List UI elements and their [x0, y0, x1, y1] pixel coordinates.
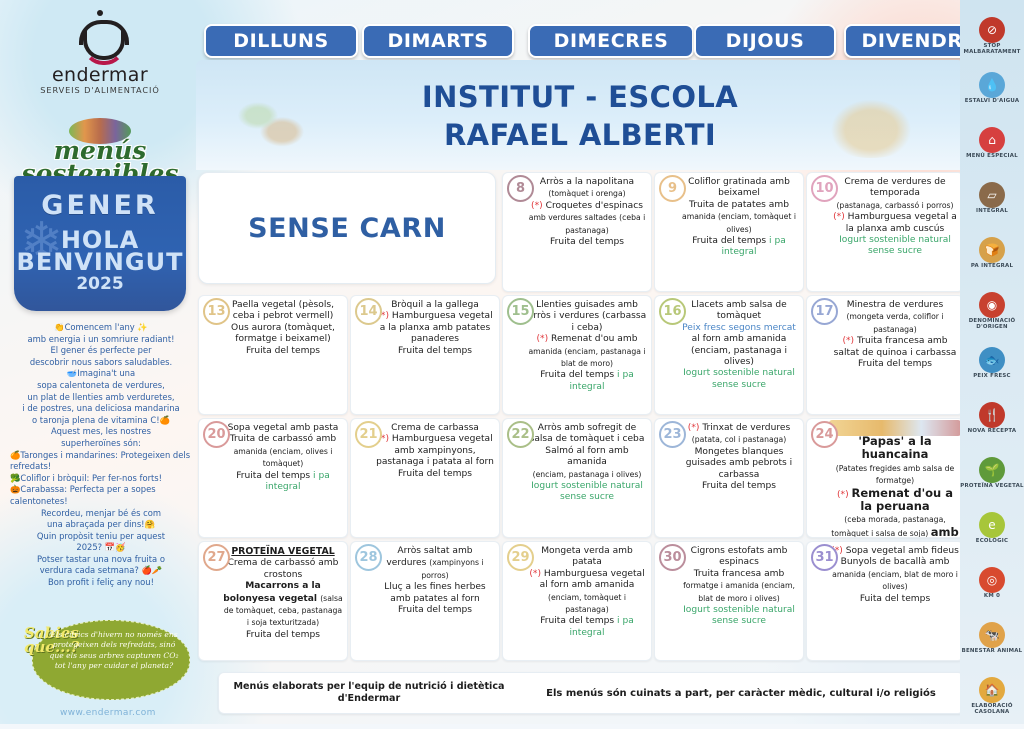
- menu-day-cell[interactable]: 16Llacets amb salsa de tomàquetPeix fres…: [654, 295, 804, 415]
- menu-text: Crema de carbassa: [391, 423, 479, 433]
- menu-line: Fruita del temps: [223, 630, 343, 641]
- menu-text: Crema de carbassó amb crostons: [228, 558, 339, 579]
- menu-text: Iogurt sostenible natural sense sucre: [683, 605, 795, 626]
- menu-line: amanida (enciam, pastanaga i blat de mor…: [527, 346, 647, 371]
- menu-line: Llenties guisades amb arròs i verdures (…: [527, 300, 647, 334]
- menu-line: amb verdures saltades (ceba i pastanaga): [527, 212, 647, 237]
- intro-line: superheroïnes són:: [10, 438, 192, 450]
- menu-day-cell[interactable]: 28Arròs saltat ambverdures (xampinyons i…: [350, 541, 500, 661]
- menu-line: (mongeta verda, coliflor i pastanaga): [831, 311, 959, 336]
- day-number: 28: [355, 544, 382, 571]
- legend-icon-rail: ⊘STOP MALBARATAMENT💧ESTALVI D'AIGUA⌂MENÚ…: [960, 0, 1024, 724]
- menu-text: Hamburguesa vegetal amb xampinyons, past…: [376, 434, 494, 467]
- intro-line: un plat de llenties amb verduretes,: [10, 392, 192, 404]
- intro-line: 🥣Imagina't una: [10, 368, 192, 380]
- legend-item-cutlery: 🍴NOVA RECEPTA: [960, 402, 1024, 454]
- menu-text: Macarrons a la bolonyesa vegetal: [223, 581, 321, 603]
- menu-text: Mongeta verda amb patata: [541, 546, 633, 567]
- menu-line: Fruita del temps: [223, 346, 343, 357]
- legend-item-label: MENÚ ESPECIAL: [960, 153, 1024, 159]
- menu-day-cell[interactable]: 27PROTEÏNA VEGETALCrema de carbassó amb …: [198, 541, 348, 661]
- sprout-icon: 🌱: [975, 457, 1009, 482]
- menu-text: Fruita del temps: [398, 346, 472, 356]
- weekday-label: DIJOUS: [726, 30, 805, 52]
- legend-item-label: KM 0: [960, 593, 1024, 599]
- menu-text: Salmó al forn amb amanida: [545, 446, 628, 467]
- menu-day-cell[interactable]: 21Crema de carbassa(*) Hamburguesa veget…: [350, 418, 500, 538]
- sense-carn-label: SENSE CARN: [248, 213, 446, 244]
- day-number: 27: [203, 544, 230, 571]
- brand-tagline: SERVEIS D'ALIMENTACIÓ: [0, 85, 200, 95]
- menu-text: al forn amb amanida (enciam, pastanaga i…: [691, 334, 787, 367]
- menu-text: Minestra de verdures: [847, 300, 943, 310]
- menu-line: (patata, col i pastanaga): [679, 434, 799, 446]
- menu-text: (ceba morada, pastanaga, tomàquet i sals…: [831, 515, 945, 537]
- intro-line: una abraçada per dins!🤗: [10, 519, 192, 531]
- menu-text: Hamburguesa vegetal al forn amb amanida: [540, 569, 645, 590]
- day-number: 16: [659, 298, 686, 325]
- menu-line: (pastanaga, carbassó i porros): [831, 200, 959, 212]
- menu-day-cell[interactable]: 8Arròs a la napolitana(tomàquet i orenga…: [502, 172, 652, 292]
- menu-line: amanida (enciam, tomàquet i olives): [679, 211, 799, 236]
- menu-text: Paella vegetal (pèsols, ceba i pebrot ve…: [232, 300, 334, 321]
- menu-day-cell[interactable]: 17Minestra de verdures(mongeta verda, co…: [806, 295, 964, 415]
- day-number: 17: [811, 298, 838, 325]
- weekday-pill-dijous[interactable]: DIJOUS: [694, 24, 836, 58]
- menu-line: Bunyols de bacallà amb: [831, 557, 959, 568]
- animal-welfare-icon: 🐄: [975, 622, 1009, 647]
- menu-line: Minestra de verdures: [831, 300, 959, 311]
- menu-text: (*): [531, 201, 546, 211]
- menu-line: Lluç a les fines herbes amb patates al f…: [375, 582, 495, 605]
- menu-line: Coliflor gratinada amb beixamel: [679, 177, 799, 200]
- menu-line: Fruita del temps: [375, 469, 495, 480]
- weekday-pill-dimecres[interactable]: DIMECRES: [528, 24, 694, 58]
- legend-item-animal-welfare: 🐄BENESTAR ANIMAL: [960, 622, 1024, 674]
- menu-line: verdures (xampinyons i porros): [375, 557, 495, 582]
- menu-text: amb: [931, 525, 959, 538]
- menu-line: Iogurt sostenible natural sense sucre: [831, 235, 959, 258]
- menu-text: Fruita del temps: [692, 236, 769, 246]
- menu-line: Fuita del temps: [831, 594, 959, 605]
- menu-text: PROTEÏNA VEGETAL: [231, 546, 334, 557]
- day-number: 13: [203, 298, 230, 325]
- intro-line: Quin propòsit teniu per aquest: [10, 531, 192, 543]
- day-number: 20: [203, 421, 230, 448]
- menu-text: Iogurt sostenible natural sense sucre: [839, 235, 951, 256]
- menu-day-cell[interactable]: 23(*) Trinxat de verdures(patata, col i …: [654, 418, 804, 538]
- menu-text: Truita de carbassó amb: [230, 434, 336, 444]
- menu-line: Fruita del temps: [679, 481, 799, 492]
- footer-note: Menús elaborats per l'equip de nutrició …: [218, 672, 964, 714]
- menu-line: Crema de carbassa: [375, 423, 495, 434]
- menu-line: (*) Remenat d'ou a la peruana: [831, 488, 959, 515]
- menu-text: verdures: [386, 558, 429, 568]
- intro-line: amb energia i un somriure radiant!: [10, 334, 192, 346]
- menu-text: Remenat d'ou a la peruana: [852, 486, 954, 513]
- menu-day-cell[interactable]: 29Mongeta verda amb patata(*) Hamburgues…: [502, 541, 652, 661]
- menu-line: Ous aurora (tomàquet, formatge i beixame…: [223, 323, 343, 346]
- menu-line: Fruita del temps i pa integral: [527, 370, 647, 393]
- menu-line: (Patates fregides amb salsa de formatge): [831, 463, 959, 488]
- legend-item-label: NOVA RECEPTA: [960, 428, 1024, 434]
- intro-line: verdura cada setmana? 🍎🥕: [10, 565, 192, 577]
- menu-text: Arròs amb sofregit de salsa de tomàquet …: [530, 423, 645, 444]
- weekday-pill-dilluns[interactable]: DILLUNS: [204, 24, 358, 58]
- menu-text: (tomàquet i orenga): [548, 189, 625, 198]
- menu-text: (xampinyons i porros): [421, 558, 483, 579]
- legend-item-label: INTEGRAL: [960, 208, 1024, 214]
- menu-text: Coliflor gratinada amb beixamel: [688, 177, 790, 198]
- menu-text: Lluç a les fines herbes amb patates al f…: [384, 582, 485, 603]
- day-number: 10: [811, 175, 838, 202]
- menu-text: (enciam, pastanaga i olives): [533, 470, 642, 479]
- menu-day-cell[interactable]: 13Paella vegetal (pèsols, ceba i pebrot …: [198, 295, 348, 415]
- intro-line: Potser tastar una nova fruita o: [10, 554, 192, 566]
- menu-line: Paella vegetal (pèsols, ceba i pebrot ve…: [223, 300, 343, 323]
- menu-text: Iogurt sostenible natural sense sucre: [531, 481, 643, 502]
- day-number: 21: [355, 421, 382, 448]
- school-title-1: INSTITUT - ESCOLA: [422, 80, 738, 114]
- menu-day-cell[interactable]: 14Bròquil a la gallega(*) Hamburguesa ve…: [350, 295, 500, 415]
- menu-day-cell[interactable]: 10Crema de verdures de temporada (pastan…: [806, 172, 964, 292]
- menu-text: (*): [833, 212, 848, 222]
- day-number: 23: [659, 421, 686, 448]
- menu-day-cell[interactable]: 30Cigrons estofats amb espinacsTruita fr…: [654, 541, 804, 661]
- menu-text: Sopa vegetal amb fideus: [846, 546, 959, 556]
- day-number: 15: [507, 298, 534, 325]
- menu-text: 'Papas' a la huancaina: [858, 434, 931, 461]
- home-cooking-icon: 🏠: [975, 677, 1009, 702]
- menu-line: Fruita del temps: [831, 359, 959, 370]
- intro-line: 🥦Coliflor i bròquil: Per fer-nos forts!: [10, 473, 192, 485]
- menu-text: Fruita del temps: [236, 471, 313, 481]
- menu-line: Fruita del temps: [375, 605, 495, 616]
- calendar-grid: INSTITUT - ESCOLA RAFAEL ALBERTI SENSE C…: [196, 60, 964, 665]
- legend-item-label: STOP MALBARATAMENT: [960, 43, 1024, 56]
- menu-text: Arròs saltat amb: [397, 546, 472, 556]
- menu-text: Fruita del temps: [702, 481, 776, 491]
- menu-text: Hamburguesa vegetal a la planxa amb pata…: [380, 311, 493, 344]
- legend-item-bread: 🍞PA INTEGRAL: [960, 237, 1024, 289]
- menu-line: Bròquil a la gallega: [375, 300, 495, 311]
- brand-block: endermar SERVEIS D'ALIMENTACIÓ: [0, 8, 200, 95]
- legend-item-eco-leaf: eECOLÒGIC: [960, 512, 1024, 564]
- menu-text: amb verdures saltades (ceba i pastanaga): [529, 213, 646, 234]
- menu-line: Fruita del temps: [375, 346, 495, 357]
- menu-poster: endermar SERVEIS D'ALIMENTACIÓ menús sos…: [0, 0, 1024, 724]
- legend-item-water-drop: 💧ESTALVI D'AIGUA: [960, 72, 1024, 124]
- menu-text: Fruita del temps: [858, 359, 932, 369]
- cutlery-icon: 🍴: [975, 402, 1009, 427]
- water-drop-icon: 💧: [975, 72, 1009, 97]
- menu-line: (*) Truita francesa amb saltat de quinoa…: [831, 336, 959, 359]
- menu-line: (enciam, pastanaga i olives): [527, 469, 647, 481]
- legend-item-label: PEIX FRESC: [960, 373, 1024, 379]
- stop-waste-icon: ⊘: [975, 17, 1009, 42]
- sustainable-menus-badge: menús sostenibles: [14, 118, 186, 176]
- menu-line: Crema de carbassó amb crostons: [223, 558, 343, 581]
- menu-text: Truita de patates amb: [689, 200, 789, 210]
- menu-text: Bròquil a la gallega: [391, 300, 479, 310]
- menu-line: Mongetes blanques guisades amb pebrots i…: [679, 447, 799, 481]
- intro-line: sopa calentoneta de verdures,: [10, 380, 192, 392]
- menu-line: (tomàquet i orenga): [527, 188, 647, 200]
- menu-text: (pastanaga, carbassó i porros): [836, 201, 953, 210]
- greeting-line-2: BENVINGUT: [17, 248, 184, 276]
- legend-item-label: ECOLÒGIC: [960, 538, 1024, 544]
- menu-text: (patata, col i pastanaga): [692, 435, 787, 444]
- intro-line: 2025? 📅🥳: [10, 542, 192, 554]
- legend-item-home-cooking: 🏠ELABORACIÓ CASOLANA: [960, 677, 1024, 729]
- menu-line: Iogurt sostenible natural sense sucre: [679, 368, 799, 391]
- menu-text: Truita francesa amb: [694, 569, 785, 579]
- intro-line: 🍊Taronges i mandarines: Protegeixen dels…: [10, 450, 192, 473]
- menu-day-cell[interactable]: 22Arròs amb sofregit de salsa de tomàque…: [502, 418, 652, 538]
- intro-line: 👏Comencem l'any ✨: [10, 322, 192, 334]
- sense-carn-cell: SENSE CARN: [198, 172, 496, 284]
- intro-line: 🎃Carabassa: Perfecta per a sopes calento…: [10, 484, 192, 507]
- brand-name: endermar: [0, 64, 200, 86]
- intro-line: o taronja plena de vitamina C!🍊: [10, 415, 192, 427]
- menu-text: Croquetes d'espinacs: [546, 201, 643, 211]
- menu-line: Llacets amb salsa de tomàquet: [679, 300, 799, 323]
- weekday-label: DIMECRES: [554, 30, 669, 52]
- menu-line: amanida (enciam, blat de moro i olives): [831, 569, 959, 594]
- intro-line: descobrir nous sabors saludables.: [10, 357, 192, 369]
- legend-item-label: PROTEÏNA VEGETAL: [960, 483, 1024, 489]
- fish-icon: 🐟: [975, 347, 1009, 372]
- km0-seal-icon: ◎: [975, 567, 1009, 592]
- menu-text: amanida (enciam, pastanaga i blat de mor…: [528, 347, 645, 368]
- menu-text: Peix fresc segons mercat: [682, 323, 796, 333]
- did-you-know-bubble: Sabies que...? Els cítrics d'hivern no n…: [22, 616, 188, 702]
- menu-line: Truita de carbassó amb: [223, 434, 343, 445]
- weekday-label: DILLUNS: [233, 30, 329, 52]
- menu-text: Fruita del temps: [540, 616, 617, 626]
- menu-text: Trinxat de verdures: [702, 423, 790, 433]
- menu-text: formatge i amanida (enciam, blat de moro…: [683, 581, 795, 602]
- menu-text: Iogurt sostenible natural sense sucre: [683, 368, 795, 389]
- menu-text: Fruita del temps: [398, 605, 472, 615]
- menu-line: (*) Hamburguesa vegetal al forn amb aman…: [527, 569, 647, 592]
- menu-line: Peix fresc segons mercat al forn amb ama…: [679, 323, 799, 369]
- weekday-pill-dimarts[interactable]: DIMARTS: [362, 24, 514, 58]
- left-sidebar: endermar SERVEIS D'ALIMENTACIÓ menús sos…: [0, 0, 200, 724]
- day-number: 9: [659, 175, 686, 202]
- menu-line: (*) Croquetes d'espinacs: [527, 201, 647, 212]
- menu-line: Cigrons estofats amb espinacs: [679, 546, 799, 569]
- menu-text: Crema de verdures de temporada: [844, 177, 945, 198]
- legend-item-integral-bag: ▱INTEGRAL: [960, 182, 1024, 234]
- intro-line: Aquest mes, les nostres: [10, 426, 192, 438]
- menu-text: Fruita del temps: [550, 237, 624, 247]
- intro-line: El gener és perfecte per: [10, 345, 192, 357]
- day-number: 29: [507, 544, 534, 571]
- school-header: INSTITUT - ESCOLA RAFAEL ALBERTI: [196, 60, 964, 170]
- menu-line: (enciam, tomàquet i pastanaga): [527, 592, 647, 617]
- menu-text: Sopa vegetal amb pasta: [228, 423, 339, 433]
- menu-line: Iogurt sostenible natural sense sucre: [679, 605, 799, 628]
- menu-line: (*) Sopa vegetal amb fideus: [831, 546, 959, 557]
- menu-line: PROTEÏNA VEGETAL: [223, 546, 343, 558]
- bread-icon: 🍞: [975, 237, 1009, 262]
- menu-line: formatge i amanida (enciam, blat de moro…: [679, 580, 799, 605]
- dyk-body: Els cítrics d'hivern no només ens proteg…: [48, 630, 180, 672]
- menu-items: 'Papas' a la huancaina(Patates fregides …: [811, 436, 959, 538]
- menu-text: Fruita del temps: [246, 630, 320, 640]
- menu-line: Fruita del temps: [527, 237, 647, 248]
- season-panel: ❄ GENER HOLA BENVINGUT 2025: [14, 176, 186, 311]
- menu-text: Fuita del temps: [860, 594, 930, 604]
- menu-line: Arròs a la napolitana: [527, 177, 647, 188]
- menu-line: Macarrons a la bolonyesa vegetal (salsa …: [223, 581, 343, 630]
- menu-text: (*): [842, 336, 857, 346]
- menu-line: 'Papas' a la huancaina: [831, 436, 959, 463]
- menu-line: (*) Trinxat de verdures: [679, 423, 799, 434]
- weekday-label: DIMARTS: [387, 30, 488, 52]
- menu-text: Mongetes blanques guisades amb pebrots i…: [686, 447, 792, 480]
- year-label: 2025: [14, 274, 186, 294]
- menu-line: Salmó al forn amb amanida: [527, 446, 647, 469]
- menu-day-cell[interactable]: 31(*) Sopa vegetal amb fideusBunyols de …: [806, 541, 964, 661]
- menu-text: amanida (enciam, tomàquet i olives): [682, 212, 796, 233]
- menu-text: Llenties guisades amb arròs i verdures (…: [528, 300, 646, 333]
- legend-item-sprout: 🌱PROTEÏNA VEGETAL: [960, 457, 1024, 509]
- intro-text: 👏Comencem l'any ✨amb energia i un somriu…: [10, 322, 192, 589]
- menu-day-cell[interactable]: 9Coliflor gratinada amb beixamelTruita d…: [654, 172, 804, 292]
- menu-text: (*): [537, 334, 552, 344]
- menu-line: (*) Hamburguesa vegetal a la planxa amb …: [831, 212, 959, 235]
- menu-text: Bunyols de bacallà amb: [841, 557, 950, 567]
- day-number: 8: [507, 175, 534, 202]
- footer-note-right: Els menús són cuinats a part, per caràct…: [519, 688, 963, 699]
- menu-day-cell[interactable]: 24'Papas' a la huancaina(Patates fregide…: [806, 418, 964, 538]
- day-number: 14: [355, 298, 382, 325]
- menu-text: Hamburguesa vegetal a la planxa amb cusc…: [846, 212, 957, 233]
- menu-line: Mongeta verda amb patata: [527, 546, 647, 569]
- menu-text: Llacets amb salsa de tomàquet: [691, 300, 786, 321]
- school-title-2: RAFAEL ALBERTI: [444, 118, 716, 152]
- menu-line: Iogurt sostenible natural sense sucre: [527, 481, 647, 504]
- menu-day-cell[interactable]: 20Sopa vegetal amb pastaTruita de carbas…: [198, 418, 348, 538]
- menu-line: (*) Remenat d'ou amb: [527, 334, 647, 345]
- day-number: 31: [811, 544, 838, 571]
- day-number: 30: [659, 544, 686, 571]
- legend-item-label: DENOMINACIÓ D'ORIGEN: [960, 318, 1024, 331]
- menu-line: amanida (enciam, olives i tomàquet): [223, 446, 343, 471]
- menu-line: (*) Hamburguesa vegetal a la planxa amb …: [375, 311, 495, 345]
- integral-bag-icon: ▱: [975, 182, 1009, 207]
- menu-text: (mongeta verda, coliflor i pastanaga): [846, 312, 943, 333]
- menu-text: Cigrons estofats amb espinacs: [691, 546, 788, 567]
- menu-line: Sopa vegetal amb pasta: [223, 423, 343, 434]
- menu-line: Fruita del temps i pa integral: [527, 616, 647, 639]
- legend-item-label: ELABORACIÓ CASOLANA: [960, 703, 1024, 716]
- day-number: 24: [811, 421, 838, 448]
- cloche-e-logo-icon: [73, 8, 127, 62]
- menu-day-cell[interactable]: 15Llenties guisades amb arròs i verdures…: [502, 295, 652, 415]
- menu-text: amanida (enciam, blat de moro i olives): [832, 570, 958, 591]
- menu-text: Fruita del temps: [246, 346, 320, 356]
- menu-text: (enciam, tomàquet i pastanaga): [548, 593, 626, 614]
- vegetables-icon: [69, 118, 131, 144]
- menu-line: Fruita del temps i pa integral: [679, 236, 799, 259]
- menu-line: Truita de patates amb: [679, 200, 799, 211]
- month-label: GENER: [14, 190, 186, 221]
- intro-line: Bon profit i feliç any nou!: [10, 577, 192, 589]
- legend-item-stop-waste: ⊘STOP MALBARATAMENT: [960, 17, 1024, 69]
- website-url: www.endermar.com: [60, 708, 156, 718]
- legend-item-cloche: ⌂MENÚ ESPECIAL: [960, 127, 1024, 179]
- menu-line: (*) Hamburguesa vegetal amb xampinyons, …: [375, 434, 495, 468]
- cloche-icon: ⌂: [975, 127, 1009, 152]
- menu-line: Truita francesa amb: [679, 569, 799, 580]
- menu-text: amanida (enciam, olives i tomàquet): [234, 447, 333, 468]
- menu-line: (ceba morada, pastanaga, tomàquet i sals…: [831, 514, 959, 538]
- day-number: 22: [507, 421, 534, 448]
- menu-line: Fruita del temps i pa integral: [223, 471, 343, 494]
- intro-line: i de postres, una deliciosa mandarina: [10, 403, 192, 415]
- menu-text: (*): [688, 423, 703, 433]
- menu-text: Arròs a la napolitana: [540, 177, 634, 187]
- legend-item-label: PA INTEGRAL: [960, 263, 1024, 269]
- legend-item-km0-seal: ◎KM 0: [960, 567, 1024, 619]
- menu-text: Ous aurora (tomàquet, formatge i beixame…: [231, 323, 335, 344]
- legend-item-label: ESTALVI D'AIGUA: [960, 98, 1024, 104]
- menu-line: Crema de verdures de temporada: [831, 177, 959, 200]
- menu-line: Arròs saltat amb: [375, 546, 495, 557]
- legend-item-label: BENESTAR ANIMAL: [960, 648, 1024, 654]
- menu-text: Remenat d'ou amb: [551, 334, 637, 344]
- legend-item-origin-seal: ◉DENOMINACIÓ D'ORIGEN: [960, 292, 1024, 344]
- menu-text: (*): [529, 569, 544, 579]
- menu-line: Arròs amb sofregit de salsa de tomàquet …: [527, 423, 647, 446]
- intro-line: Recordeu, menjar bé és com: [10, 508, 192, 520]
- menu-text: Fruita del temps: [540, 370, 617, 380]
- legend-item-fish: 🐟PEIX FRESC: [960, 347, 1024, 399]
- menu-text: Fruita del temps: [398, 469, 472, 479]
- eco-leaf-icon: e: [975, 512, 1009, 537]
- weekday-header-row: DILLUNSDIMARTSDIMECRESDIJOUSDIVENDRES: [196, 24, 964, 54]
- footer-note-left: Menús elaborats per l'equip de nutrició …: [219, 681, 519, 705]
- menu-text: (*): [837, 490, 852, 500]
- menu-text: (Patates fregides amb salsa de formatge): [836, 464, 955, 485]
- origin-seal-icon: ◉: [975, 292, 1009, 317]
